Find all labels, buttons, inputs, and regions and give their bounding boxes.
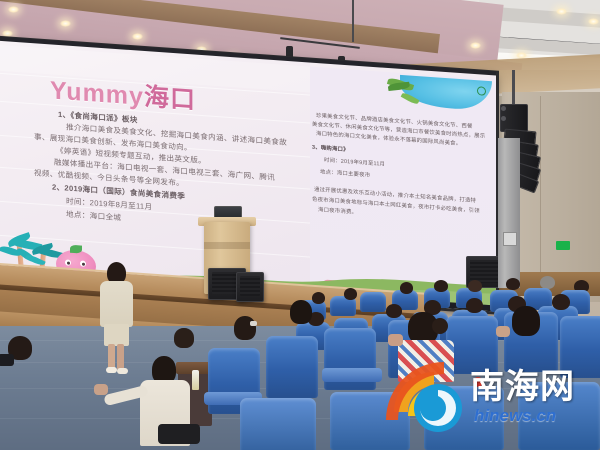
wall-seam (540, 96, 541, 292)
leaf-ring-icon (477, 86, 486, 96)
presenter-shoe (106, 367, 117, 373)
mascot-pupil (67, 262, 70, 265)
seat[interactable] (360, 292, 386, 312)
hair-bun (432, 318, 448, 334)
audience-hand (496, 326, 510, 337)
mascot-pupil (82, 263, 85, 266)
audience-person (226, 316, 266, 362)
downlight (2, 30, 13, 37)
downlight (132, 33, 143, 40)
audience-head (400, 282, 413, 294)
exit-sign (556, 241, 570, 250)
seat[interactable] (266, 336, 318, 398)
slide-right-line: 3、嗨购海口》 (312, 143, 349, 154)
slide-left-line: 地点：海口全城 (66, 208, 121, 223)
slide-right-line: 海口夜市消费。 (318, 205, 357, 216)
seat[interactable] (240, 398, 316, 450)
camera-bag (158, 424, 200, 444)
audience-person (2, 336, 46, 386)
audience-person (170, 328, 204, 362)
hair-clip (250, 321, 257, 326)
presenter-jacket (100, 281, 133, 327)
audience-hand (388, 334, 403, 346)
audience-head (344, 288, 357, 300)
wall-pillar (498, 138, 520, 288)
audience-head (174, 328, 194, 348)
audience-head (552, 294, 570, 310)
slide-right-line: 地点：海口主要夜市 (320, 167, 370, 179)
audience-head (234, 316, 256, 340)
slide-title-latin: Yummy (50, 76, 144, 111)
audience-head (290, 300, 312, 324)
watermark-brand-cn: 南海网 (470, 370, 575, 404)
standing-presenter (96, 262, 136, 372)
mascot-leaf (70, 245, 82, 254)
array-bolt (501, 116, 506, 121)
downlight (8, 6, 19, 13)
audience-head (434, 280, 448, 292)
array-bolt (501, 106, 506, 111)
camera-device (0, 354, 14, 366)
podium-trim (204, 242, 250, 249)
slide-title-cn: 海口 (144, 83, 196, 115)
wall-control-plate (503, 232, 517, 246)
audience-person (282, 300, 322, 344)
watermark: 南海网 hinews.cn (386, 356, 598, 442)
watermark-domain: hinews.cn (474, 406, 556, 426)
downlight (470, 42, 481, 49)
audience-hand (94, 384, 108, 395)
seat-armrest[interactable] (322, 368, 382, 382)
downlight (556, 8, 567, 15)
audience-head (512, 306, 540, 336)
slide-right-line: 时间：2019年9月至11月 (324, 156, 385, 168)
presenter-skirt (104, 324, 129, 346)
speaker-grille (240, 276, 260, 296)
audience-head (506, 278, 520, 290)
downlight (60, 20, 71, 27)
screenshot-root: Yummy海口 1、《食尚海口派》板块 推介海口美食及美食文化、挖掘海口美食内涵… (0, 0, 600, 450)
audience-head (466, 298, 483, 313)
downlight (588, 18, 599, 25)
stage-speaker-right (236, 272, 264, 302)
presenter-shoe (117, 368, 128, 374)
audience-head (468, 280, 482, 292)
presenter-leg (117, 344, 124, 370)
track-light-rod (352, 0, 354, 42)
water-bottle (192, 370, 199, 390)
